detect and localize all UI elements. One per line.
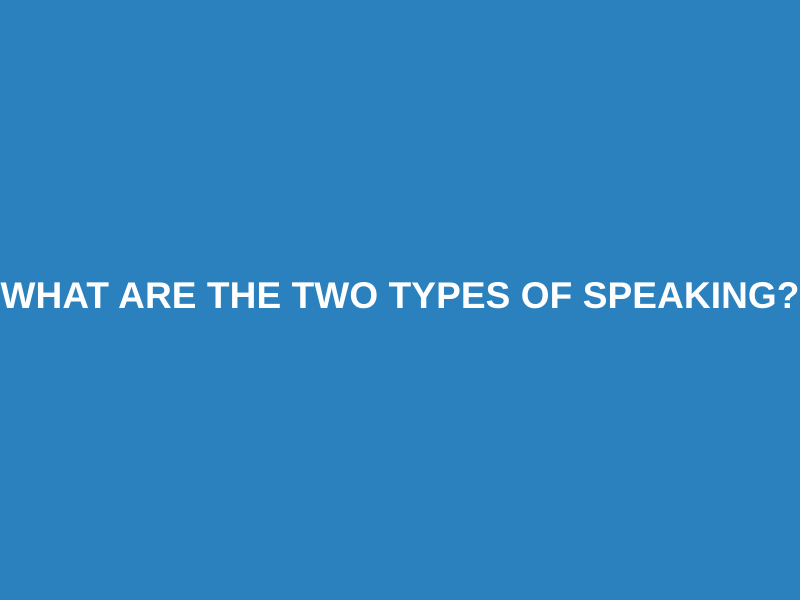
banner-content: WHAT ARE THE TWO TYPES OF SPEAKING? — [0, 274, 800, 318]
article-header-banner: WHAT ARE THE TWO TYPES OF SPEAKING? — [0, 0, 800, 600]
page-title: WHAT ARE THE TWO TYPES OF SPEAKING? — [1, 274, 800, 318]
